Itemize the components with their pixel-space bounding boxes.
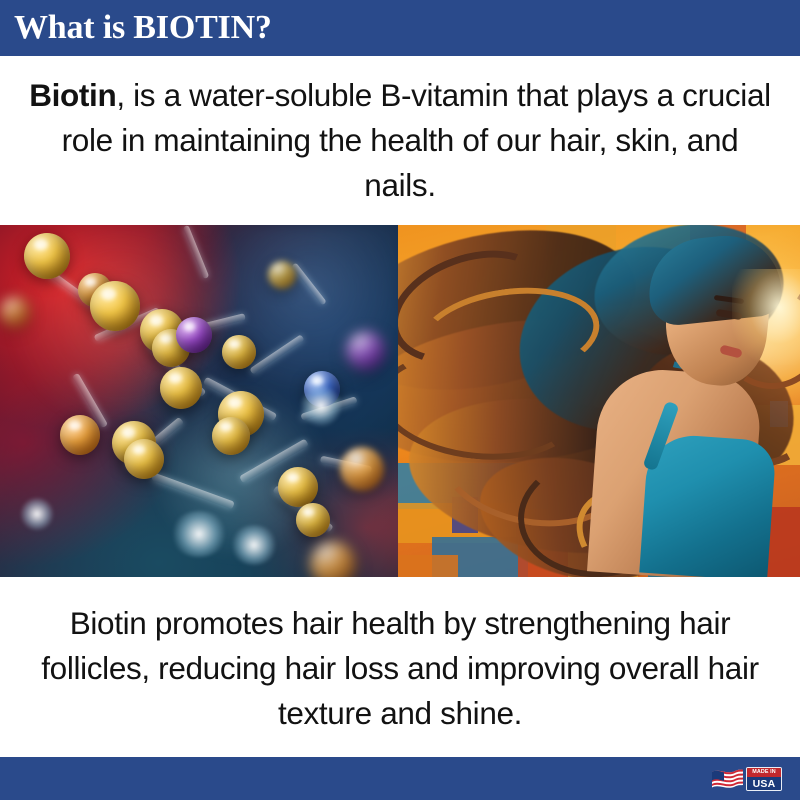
molecule-atom [0, 297, 30, 327]
made-in-usa-box: MADE IN USA [746, 767, 782, 791]
molecule-atom [176, 317, 212, 353]
outro-paragraph: Biotin promotes hair health by strengthe… [19, 601, 781, 736]
molecule-atom [340, 447, 384, 491]
us-flag-svg [712, 768, 743, 790]
molecule-image [0, 225, 398, 577]
intro-paragraph-block: Biotin, is a water-soluble B-vitamin tha… [0, 60, 800, 220]
molecule-atom [160, 367, 202, 409]
made-in-usa-badge: MADE IN USA [712, 766, 782, 792]
woman-hair-image [398, 225, 800, 577]
molecule-highlight [300, 385, 342, 427]
molecule-atom [212, 417, 250, 455]
intro-lead-word: Biotin [29, 77, 116, 113]
brush-block [398, 555, 458, 577]
molecule-atom [222, 335, 256, 369]
molecule-atom [346, 331, 386, 371]
molecule-atom [278, 467, 318, 507]
intro-rest-text: , is a water-soluble B-vitamin that play… [62, 77, 771, 203]
molecule-atom [124, 439, 164, 479]
molecule-atom [268, 261, 296, 289]
us-flag-icon [712, 768, 743, 790]
intro-paragraph: Biotin, is a water-soluble B-vitamin tha… [22, 73, 778, 208]
molecule-atom [24, 233, 70, 279]
infographic-page: What is BIOTIN? Biotin, is a water-solub… [0, 0, 800, 800]
portrait-glow [732, 269, 800, 365]
outro-paragraph-block: Biotin promotes hair health by strengthe… [0, 580, 800, 756]
molecule-atom [60, 415, 100, 455]
molecule-highlight [170, 511, 228, 557]
header-bar: What is BIOTIN? [0, 0, 800, 56]
molecule-highlight [230, 525, 278, 565]
image-band [0, 225, 800, 577]
page-title: What is BIOTIN? [14, 11, 272, 45]
molecule-atom [296, 503, 330, 537]
molecule-atom [90, 281, 140, 331]
badge-made-in-label: MADE IN [747, 768, 781, 777]
badge-usa-label: USA [747, 777, 781, 790]
molecule-highlight [20, 497, 54, 531]
footer-bar [0, 757, 800, 800]
